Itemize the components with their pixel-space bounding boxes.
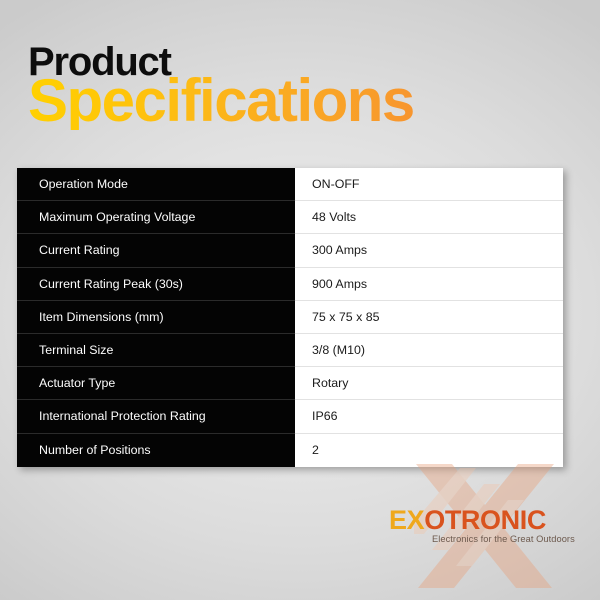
spec-label: Item Dimensions (mm) [17,301,295,334]
table-row: Maximum Operating Voltage48 Volts [17,201,563,234]
spec-value: Rotary [295,367,563,400]
page-title: Product Specifications [28,42,588,130]
spec-value: 900 Amps [295,268,563,301]
spec-label: Operation Mode [17,168,295,201]
spec-value: 75 x 75 x 85 [295,301,563,334]
table-row: Current Rating Peak (30s)900 Amps [17,268,563,301]
spec-value: ON-OFF [295,168,563,201]
spec-value: 300 Amps [295,234,563,267]
title-line-specifications: Specifications [28,72,588,130]
spec-label: Number of Positions [17,434,295,467]
table-row: Terminal Size3/8 (M10) [17,334,563,367]
spec-value: 48 Volts [295,201,563,234]
spec-label: Terminal Size [17,334,295,367]
spec-value: 3/8 (M10) [295,334,563,367]
spec-label: Maximum Operating Voltage [17,201,295,234]
table-row: Actuator TypeRotary [17,367,563,400]
specifications-table: Operation ModeON-OFFMaximum Operating Vo… [17,168,563,467]
spec-value: IP66 [295,400,563,433]
brand-tagline: Electronics for the Great Outdoors [432,534,575,544]
brand-logo: EXOTRONIC Electronics for the Great Outd… [380,462,600,592]
table-row: Current Rating300 Amps [17,234,563,267]
table-row: International Protection RatingIP66 [17,400,563,433]
brand-wordmark-ex: EX [389,505,424,535]
spec-label: Current Rating [17,234,295,267]
brand-wordmark: EXOTRONIC [389,506,546,534]
spec-label: International Protection Rating [17,400,295,433]
spec-label: Actuator Type [17,367,295,400]
brand-wordmark-otronic: OTRONIC [424,505,546,535]
spec-label: Current Rating Peak (30s) [17,268,295,301]
table-row: Item Dimensions (mm)75 x 75 x 85 [17,301,563,334]
table-row: Operation ModeON-OFF [17,168,563,201]
